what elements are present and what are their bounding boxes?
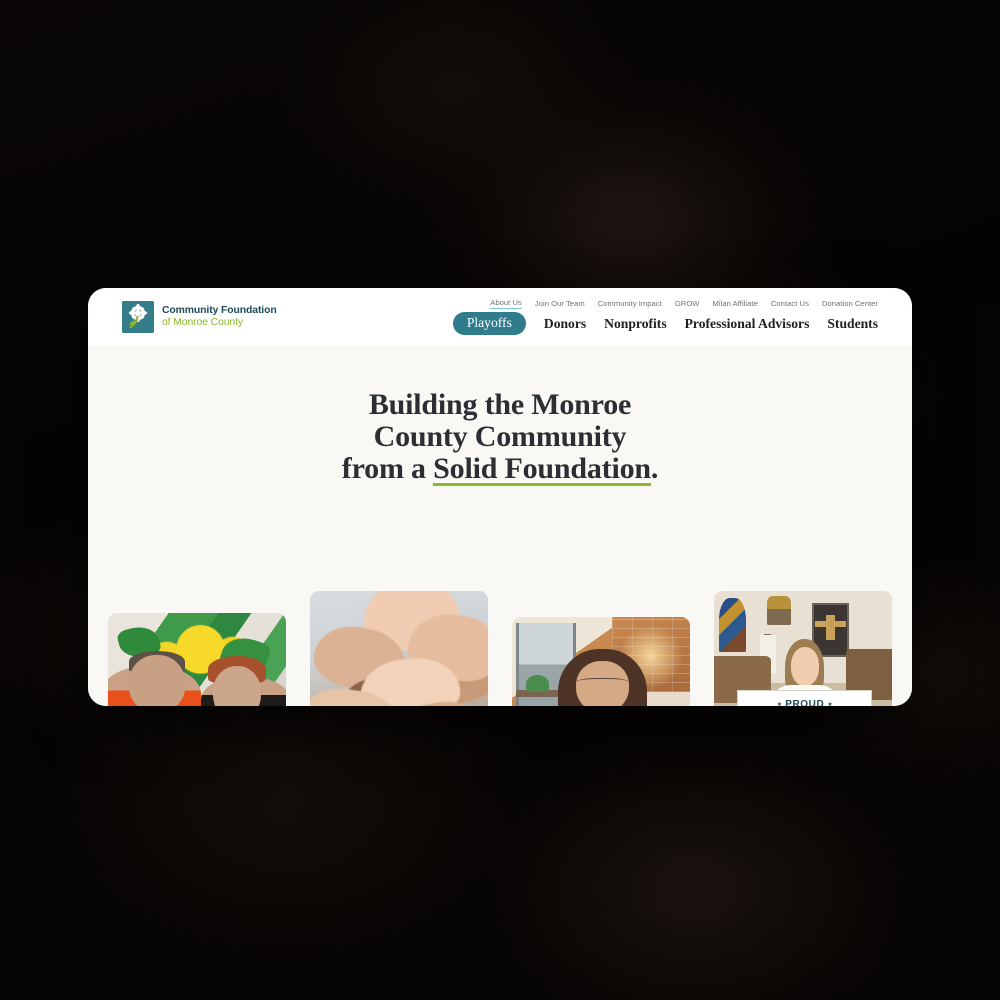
hero-highlight-solid-foundation: Solid Foundation [433,453,651,485]
photo-card-row: ★ PROUD ★ RECIPIENT OF A [88,591,912,706]
hero-line-3-suffix: . [651,452,658,485]
star-icon-left: ★ [777,702,782,706]
sign-proud-text: PROUD [785,700,824,706]
main-nav: Playoffs Donors Nonprofits Professional … [453,312,878,335]
main-nav-item-students[interactable]: Students [827,316,878,332]
hero-line-2: County Community [374,420,627,453]
page-title: Building the Monroe County Community fro… [88,345,912,485]
main-nav-item-playoffs[interactable]: Playoffs [453,312,526,335]
browser-window: Community Foundation of Monroe County Ab… [88,288,912,706]
professional-woman-photo [512,617,690,706]
hero-line-3-prefix: from a [342,452,433,485]
utility-nav-item-grow[interactable]: GROW [675,299,700,308]
brand-line-1: Community Foundation [162,305,277,317]
proud-recipient-photo: ★ PROUD ★ RECIPIENT OF A [714,591,892,706]
main-nav-item-donors[interactable]: Donors [544,316,586,332]
brand-logo[interactable]: Community Foundation of Monroe County [122,301,277,333]
main-nav-item-professional-advisors[interactable]: Professional Advisors [685,316,810,332]
header-navigation: About Us Join Our Team Community Impact … [453,298,882,335]
stacked-hands-photo [310,591,488,706]
utility-nav-item-community-impact[interactable]: Community Impact [598,299,662,308]
brand-line-2: of Monroe County [162,317,277,329]
flower-logo-icon [122,301,154,333]
star-icon-right: ★ [827,702,832,706]
photo-card-couple-mural[interactable] [108,613,286,706]
proud-recipient-sign: ★ PROUD ★ RECIPIENT OF A [737,690,872,706]
utility-nav-item-contact-us[interactable]: Contact Us [771,299,809,308]
photo-card-stacked-hands[interactable] [310,591,488,706]
utility-nav-item-donation-center[interactable]: Donation Center [822,299,878,308]
photo-card-proud-recipient[interactable]: ★ PROUD ★ RECIPIENT OF A [714,591,892,706]
utility-nav-item-milan-affiliate[interactable]: Milan Affiliate [713,299,758,308]
utility-nav-item-about-us[interactable]: About Us [490,298,522,309]
site-header: Community Foundation of Monroe County Ab… [88,288,912,345]
brand-text: Community Foundation of Monroe County [162,305,277,328]
utility-nav-item-join-our-team[interactable]: Join Our Team [535,299,585,308]
hero-section: Building the Monroe County Community fro… [88,345,912,706]
photo-card-professional-woman[interactable] [512,617,690,706]
utility-nav: About Us Join Our Team Community Impact … [490,298,878,309]
main-nav-item-nonprofits[interactable]: Nonprofits [604,316,666,332]
couple-mural-photo [108,613,286,706]
hero-line-1: Building the Monroe [369,388,631,421]
